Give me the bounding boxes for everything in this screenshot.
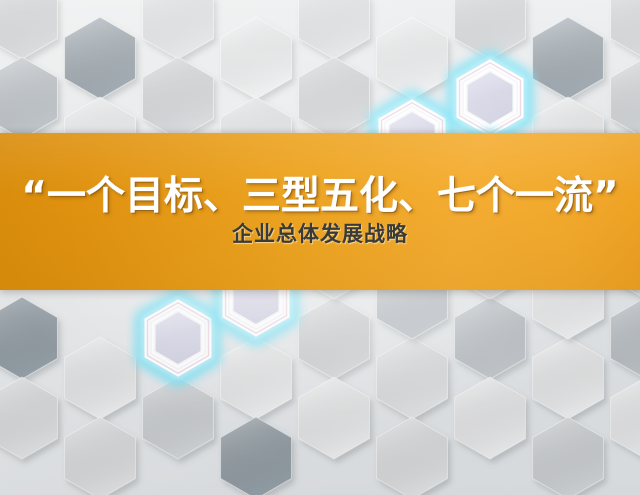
page-title: “一个目标、三型五化、七个一流” <box>21 177 618 217</box>
title-slide: “一个目标、三型五化、七个一流” 企业总体发展战略 <box>0 0 640 495</box>
page-subtitle: 企业总体发展战略 <box>232 223 408 246</box>
title-banner: “一个目标、三型五化、七个一流” 企业总体发展战略 <box>0 133 640 290</box>
